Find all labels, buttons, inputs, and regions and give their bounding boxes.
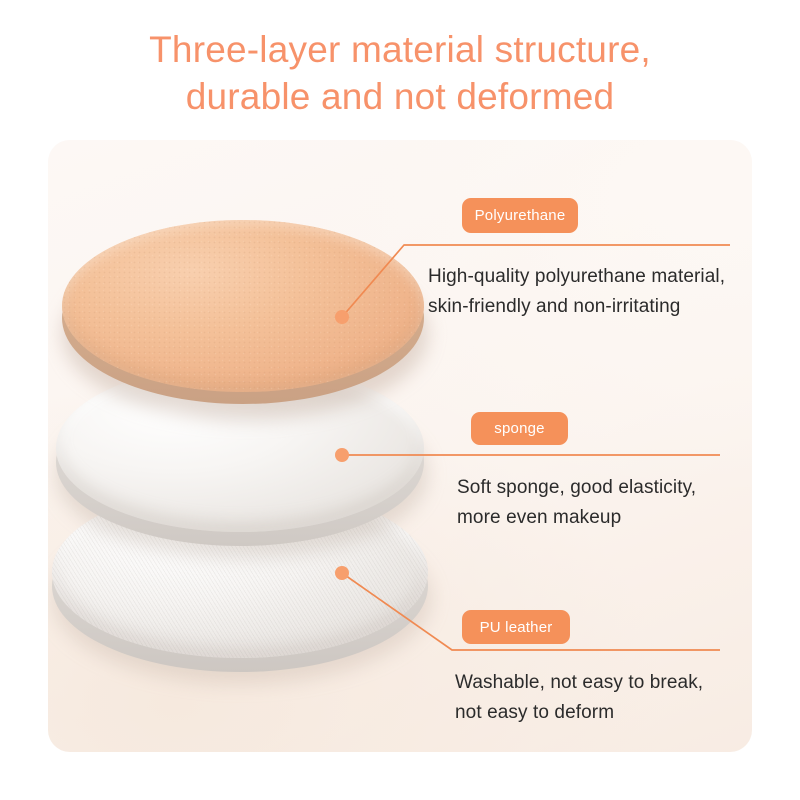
description-sponge: Soft sponge, good elasticity, more even … bbox=[457, 473, 757, 533]
layer-stack-illustration bbox=[48, 140, 752, 752]
infographic-canvas: Three-layer material structure, durable … bbox=[0, 0, 800, 800]
badge-sponge[interactable]: sponge bbox=[471, 412, 568, 445]
description-pu-leather: Washable, not easy to break, not easy to… bbox=[455, 668, 755, 728]
badge-pu-leather[interactable]: PU leather bbox=[462, 610, 570, 644]
badge-polyurethane[interactable]: Polyurethane bbox=[462, 198, 578, 233]
page-title: Three-layer material structure, durable … bbox=[0, 26, 800, 120]
polyurethane-grain-texture bbox=[62, 220, 424, 392]
description-polyurethane: High-quality polyurethane material, skin… bbox=[428, 262, 758, 322]
content-card bbox=[48, 140, 752, 752]
